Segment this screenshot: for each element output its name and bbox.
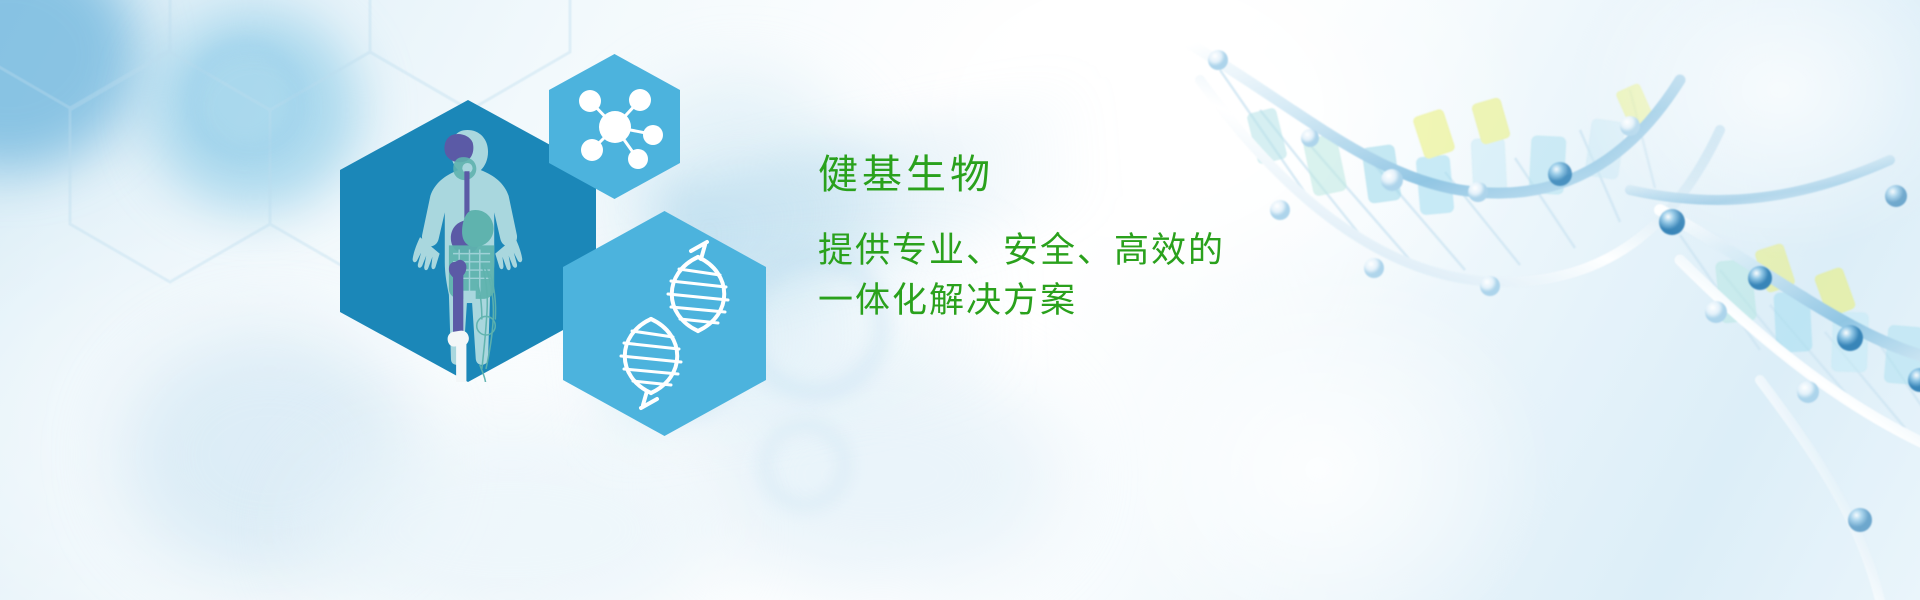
banner-subtitle: 提供专业、安全、高效的 一体化解决方案 [818, 226, 1458, 325]
dna-hexagon [563, 211, 766, 436]
subtitle-line-1: 提供专业、安全、高效的 [818, 226, 1458, 276]
molecule-hexagon [549, 54, 680, 199]
brand-title: 健基生物 [818, 150, 1458, 200]
subtitle-line-2: 一体化解决方案 [818, 276, 1458, 326]
hero-banner: 健基生物 提供专业、安全、高效的 一体化解决方案 [0, 0, 1920, 600]
hexagon-badge-group [0, 0, 840, 600]
banner-text-block: 健基生物 提供专业、安全、高效的 一体化解决方案 [818, 150, 1458, 325]
